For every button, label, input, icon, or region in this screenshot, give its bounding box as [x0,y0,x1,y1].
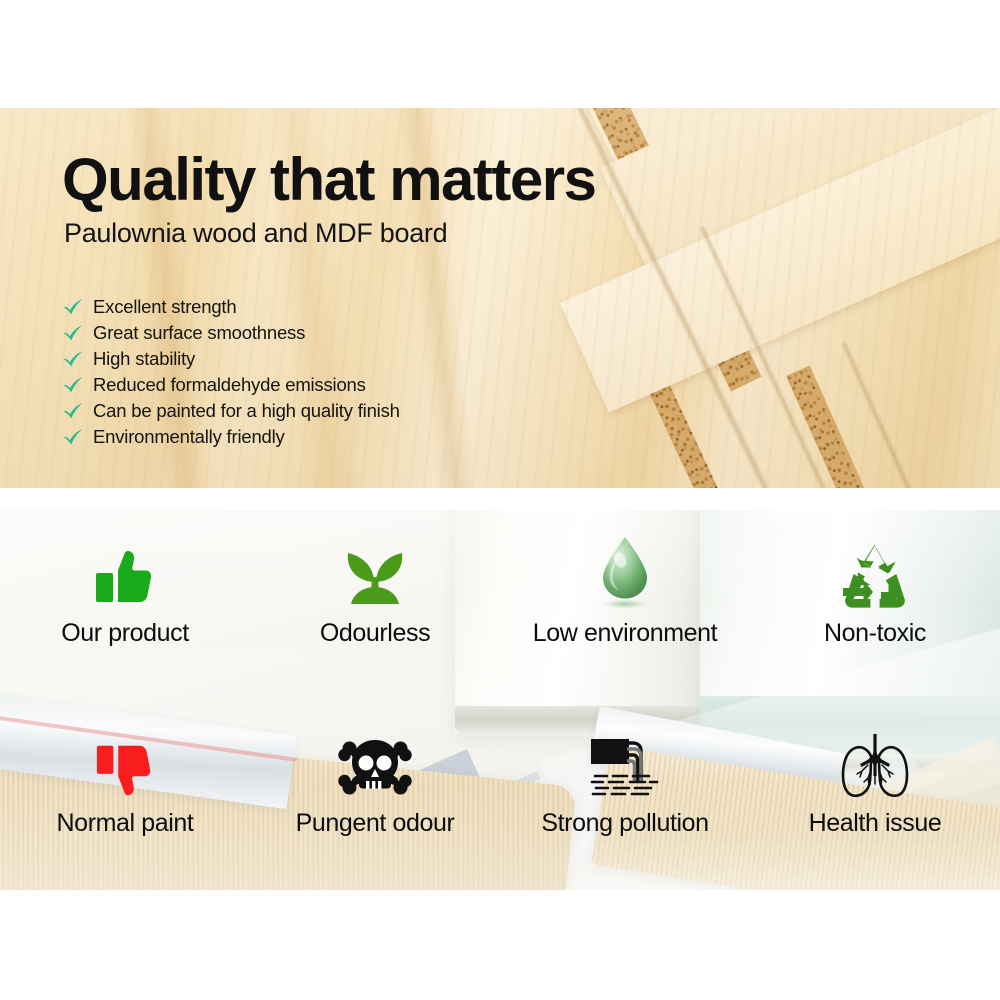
comparison-cell-normal-paint: Normal paint [0,700,250,890]
list-item: Excellent strength [62,294,400,319]
comparison-cell-non-toxic: Non-toxic [750,510,1000,700]
water-drop-icon [594,534,656,610]
list-item: High stability [62,346,400,371]
comparison-cell-odourless: Odourless [250,510,500,700]
comparison-cell-our-product: Our product [0,510,250,700]
check-icon [62,376,84,394]
feature-label: Excellent strength [93,296,236,318]
lungs-icon [838,732,912,800]
feature-label: Reduced formaldehyde emissions [93,374,366,396]
page-title: Quality that matters [62,150,595,210]
hero-text-block: Quality that matters Paulownia wood and … [62,150,595,249]
page-subtitle: Paulownia wood and MDF board [64,218,595,249]
comparison-cell-pungent-odour: Pungent odour [250,700,500,890]
cell-label: Odourless [320,619,430,648]
cell-label: Low environment [533,619,717,648]
cell-label: Health issue [809,809,942,838]
check-icon [62,350,84,368]
pipe-discharge-icon [587,736,663,800]
comparison-grid: Our product Odourless [0,510,1000,890]
feature-label: Environmentally friendly [93,426,285,448]
list-item: Reduced formaldehyde emissions [62,372,400,397]
cell-label: Normal paint [57,809,194,838]
check-icon [62,428,84,446]
thumbs-up-icon [93,546,157,610]
check-icon [62,402,84,420]
comparison-cell-strong-pollution: Strong pollution [500,700,750,890]
check-icon [62,324,84,342]
feature-label: Can be painted for a high quality finish [93,400,400,422]
cell-label: Our product [61,619,189,648]
check-icon [62,298,84,316]
cell-label: Strong pollution [541,809,708,838]
list-item: Great surface smoothness [62,320,400,345]
hero-wood-panel: Quality that matters Paulownia wood and … [0,108,1000,488]
thumbs-down-icon [94,738,156,800]
skull-crossbones-icon [336,736,414,800]
feature-list: Excellent strength Great surface smoothn… [62,294,400,450]
comparison-photo-panel: Our product Odourless [0,510,1000,890]
feature-label: Great surface smoothness [93,322,305,344]
feature-label: High stability [93,348,195,370]
cell-label: Non-toxic [824,619,926,648]
sprout-icon [341,544,409,610]
comparison-cell-health-issue: Health issue [750,700,1000,890]
list-item: Can be painted for a high quality finish [62,398,400,423]
list-item: Environmentally friendly [62,424,400,449]
comparison-cell-low-environment: Low environment [500,510,750,700]
recycle-icon [840,544,910,610]
cell-label: Pungent odour [296,809,455,838]
